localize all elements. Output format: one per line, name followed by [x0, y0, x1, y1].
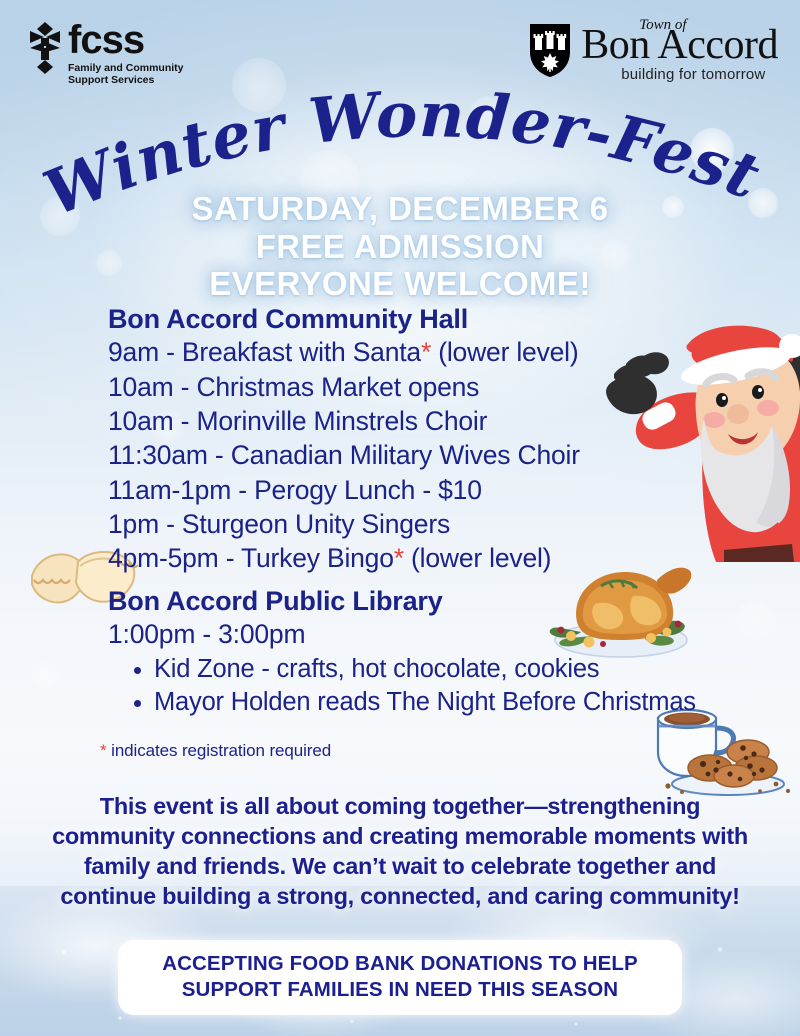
registration-asterisk: *: [394, 543, 404, 573]
schedule-row: 4pm-5pm - Turkey Bingo* (lower level): [108, 541, 580, 575]
schedule-event: Perogy Lunch - $10: [254, 475, 482, 505]
banner-line-2: SUPPORT FAMILIES IN NEED THIS SEASON: [134, 977, 666, 1003]
registration-asterisk: *: [421, 337, 431, 367]
fcss-subtitle-line1: Family and Community: [68, 62, 184, 74]
schedule-row: 10am - Morinville Minstrels Choir: [108, 404, 580, 438]
schedule-dash: -: [174, 372, 197, 402]
schedule-event: Turkey Bingo: [241, 543, 394, 573]
schedule-time: 4pm-5pm: [108, 543, 219, 573]
schedule-row: 10am - Christmas Market opens: [108, 370, 580, 404]
library-heading: Bon Accord Public Library: [108, 585, 696, 617]
footnote-text: indicates registration required: [107, 741, 332, 760]
community-hall-section: Bon Accord Community Hall 9am - Breakfas…: [108, 303, 580, 576]
headline-date: SATURDAY, DECEMBER 6: [0, 190, 800, 228]
library-section: Bon Accord Public Library 1:00pm - 3:00p…: [108, 585, 696, 718]
fcss-emblem-icon: [28, 22, 62, 74]
schedule-dash: -: [208, 440, 231, 470]
schedule-row: 1pm - Sturgeon Unity Singers: [108, 507, 580, 541]
schedule-time: 10am: [108, 372, 174, 402]
registration-footnote: * indicates registration required: [100, 741, 331, 761]
schedule-event: Sturgeon Unity Singers: [182, 509, 450, 539]
food-bank-banner: ACCEPTING FOOD BANK DONATIONS TO HELP SU…: [118, 940, 682, 1015]
list-item: Kid Zone - crafts, hot chocolate, cookie…: [154, 654, 696, 685]
headline-admission: FREE ADMISSION: [0, 228, 800, 266]
schedule-row: 9am - Breakfast with Santa* (lower level…: [108, 335, 580, 369]
fcss-logo: fcss Family and Community Support Servic…: [28, 22, 184, 87]
schedule-event: Breakfast with Santa: [182, 337, 421, 367]
bon-accord-logo: Town of Bon Accord building for tomorrow: [528, 18, 778, 82]
schedule-time: 10am: [108, 406, 174, 436]
schedule-row: 11am-1pm - Perogy Lunch - $10: [108, 473, 580, 507]
list-item: Mayor Holden reads The Night Before Chri…: [154, 687, 696, 718]
schedule-time: 11am-1pm: [108, 475, 231, 505]
bon-accord-shield-icon: [528, 22, 572, 78]
fcss-acronym: fcss: [68, 22, 184, 59]
santa-waving-illustration: [596, 322, 800, 562]
schedule-time: 1pm: [108, 509, 159, 539]
schedule-dash: -: [231, 475, 254, 505]
headline-welcome: EVERYONE WELCOME!: [0, 265, 800, 303]
schedule-dash: -: [159, 509, 182, 539]
schedule-dash: -: [219, 543, 241, 573]
library-activity-list: Kid Zone - crafts, hot chocolate, cookie…: [108, 654, 696, 718]
schedule-note: (lower level): [431, 337, 578, 367]
schedule-event: Morinville Minstrels Choir: [196, 406, 487, 436]
schedule-time: 11:30am: [108, 440, 208, 470]
banner-line-1: ACCEPTING FOOD BANK DONATIONS TO HELP: [134, 951, 666, 977]
bon-accord-name: Bon Accord: [581, 26, 778, 66]
poster: fcss Family and Community Support Servic…: [0, 0, 800, 1036]
community-hall-heading: Bon Accord Community Hall: [108, 303, 580, 335]
community-hall-schedule: 9am - Breakfast with Santa* (lower level…: [108, 335, 580, 575]
schedule-note: (lower level): [404, 543, 551, 573]
library-hours: 1:00pm - 3:00pm: [108, 617, 696, 651]
headline-block: SATURDAY, DECEMBER 6 FREE ADMISSION EVER…: [0, 190, 800, 303]
schedule-dash: -: [174, 406, 197, 436]
schedule-event: Christmas Market opens: [196, 372, 479, 402]
schedule-time: 9am: [108, 337, 159, 367]
closing-message: This event is all about coming together—…: [44, 792, 756, 911]
schedule-event: Canadian Military Wives Choir: [231, 440, 580, 470]
schedule-dash: -: [159, 337, 182, 367]
schedule-row: 11:30am - Canadian Military Wives Choir: [108, 438, 580, 472]
